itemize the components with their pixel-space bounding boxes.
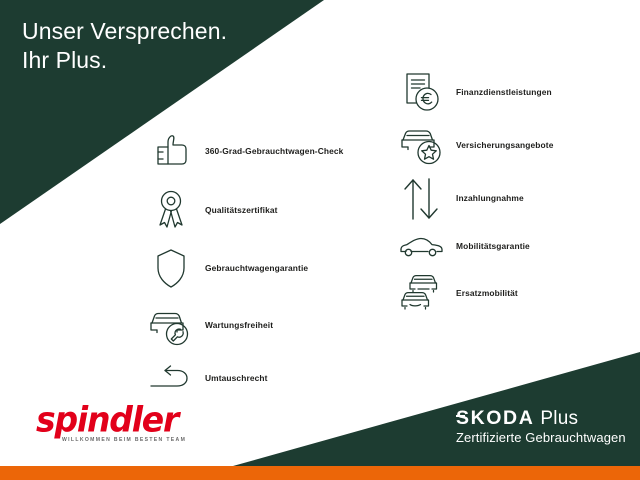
feature-item: 360-Grad-Gebrauchtwagen-Check xyxy=(145,124,385,179)
two-cars-icon xyxy=(396,270,448,318)
feature-item: Inzahlungnahme xyxy=(396,172,640,225)
feature-item: Ersatzmobilität xyxy=(396,267,640,320)
feature-label: Ersatzmobilität xyxy=(448,288,518,299)
dealer-wordmark: spindler xyxy=(36,403,202,437)
feature-label: Gebrauchtwagengarantie xyxy=(197,263,308,274)
skoda-subtitle: Zertifizierte Gebrauchtwagen xyxy=(456,430,636,445)
feature-label: Versicherungsangebote xyxy=(448,140,553,151)
feature-item: Finanzdienstleistungen xyxy=(396,66,640,119)
skoda-plus-logo[interactable]: SKODA Plus Zertifizierte Gebrauchtwagen xyxy=(456,408,636,445)
feature-label: Finanzdienstleistungen xyxy=(448,87,552,98)
skoda-s-bar xyxy=(456,415,465,417)
feature-item: Versicherungsangebote xyxy=(396,119,640,172)
headline-line-1: Unser Versprechen. xyxy=(22,18,227,44)
skoda-wordmark-text: SKODA xyxy=(456,407,534,429)
feature-item: Qualitätszertifikat xyxy=(145,183,385,237)
shield-icon xyxy=(145,244,197,292)
skoda-logo-row: SKODA Plus xyxy=(456,408,636,429)
feature-list-right: Finanzdienstleistungen Versicherungsange… xyxy=(396,66,640,320)
feature-label: Qualitätszertifikat xyxy=(197,205,278,216)
feature-label: 360-Grad-Gebrauchtwagen-Check xyxy=(197,146,343,157)
car-wrench-icon xyxy=(145,302,197,350)
orange-accent-bar xyxy=(0,466,640,480)
skoda-plus-text: Plus xyxy=(540,408,578,429)
feature-item: Gebrauchtwagengarantie xyxy=(145,241,385,295)
feature-label: Mobilitätsgarantie xyxy=(448,241,530,252)
promo-banner: Unser Versprechen. Ihr Plus. 360-Grad-Ge… xyxy=(0,0,640,480)
up-down-arrows-icon xyxy=(396,175,448,223)
dealer-logo[interactable]: spindler WILLKOMMEN BEIM BESTEN TEAM xyxy=(36,403,202,443)
feature-label: Inzahlungnahme xyxy=(448,193,524,204)
feature-label: Umtauschrecht xyxy=(197,373,268,384)
rosette-award-icon xyxy=(145,186,197,234)
feature-label: Wartungsfreiheit xyxy=(197,320,273,331)
car-star-icon xyxy=(396,122,448,170)
document-euro-icon xyxy=(396,69,448,117)
thumbs-up-icon xyxy=(145,128,197,176)
headline: Unser Versprechen. Ihr Plus. xyxy=(22,17,302,75)
return-arrow-icon xyxy=(145,354,197,402)
feature-item: Wartungsfreiheit xyxy=(145,299,385,352)
feature-item: Umtauschrecht xyxy=(145,356,385,400)
feature-item: Mobilitätsgarantie xyxy=(396,225,640,267)
headline-line-2: Ihr Plus. xyxy=(22,46,302,75)
car-side-icon xyxy=(396,222,448,270)
skoda-wordmark: SKODA xyxy=(456,408,534,429)
feature-list-left: 360-Grad-Gebrauchtwagen-Check Qualitätsz… xyxy=(145,124,385,404)
